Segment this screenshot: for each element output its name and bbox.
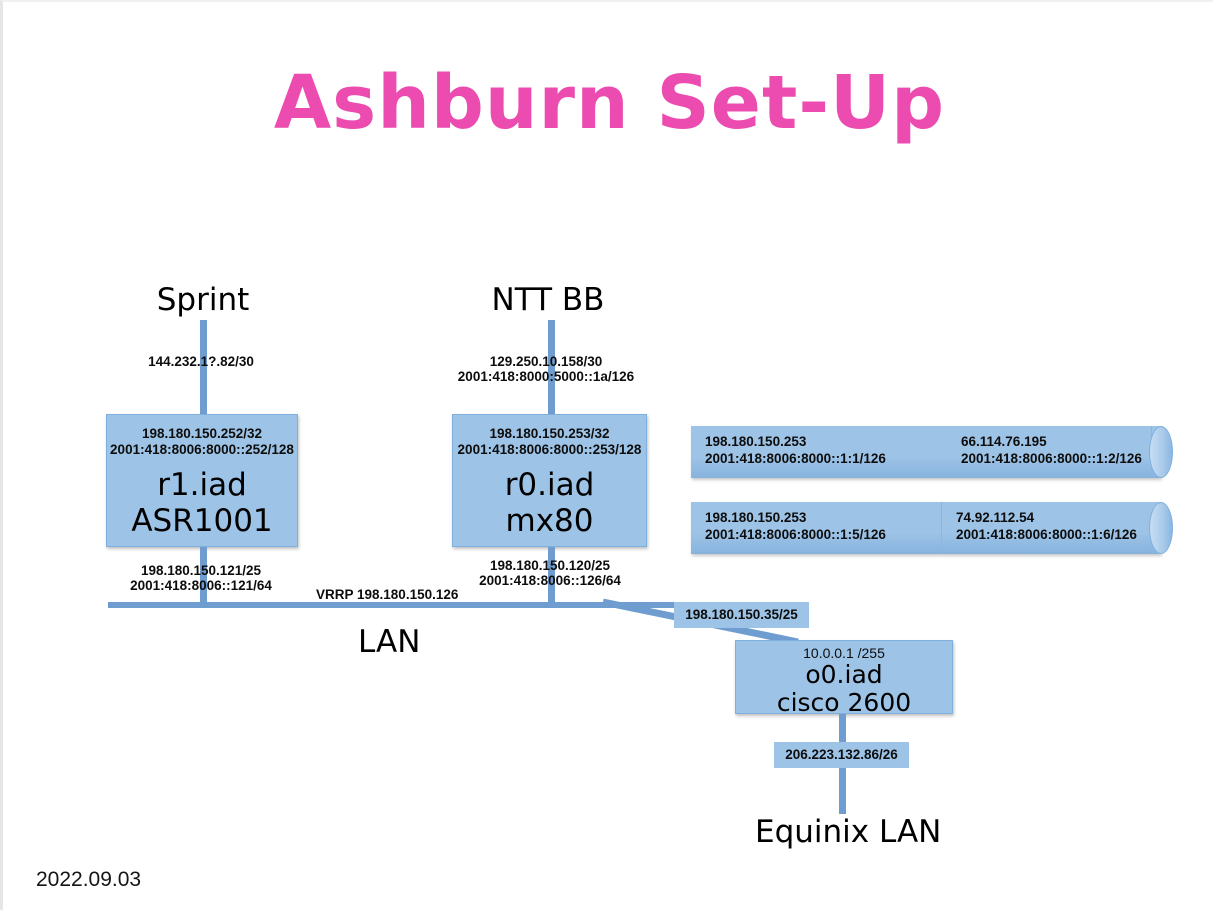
cylinder-2-endcap bbox=[1149, 502, 1173, 554]
peering-1-local-v6: 2001:418:8006:8000::1:1/126 bbox=[705, 450, 886, 467]
router-o0-mgmt: 10.0.0.1 /255 bbox=[736, 645, 952, 661]
slide-canvas: Ashburn Set-Up Sprint 144.232.1?.82/30 N… bbox=[0, 0, 1213, 910]
peering-2-local-v4: 198.180.150.253 bbox=[705, 509, 806, 526]
peering-2-local-v6: 2001:418:8006:8000::1:5/126 bbox=[705, 526, 886, 543]
provider-label-sprint: Sprint bbox=[128, 282, 278, 318]
router-box-o0[interactable]: 10.0.0.1 /255 o0.iad cisco 2600 bbox=[735, 640, 953, 714]
badge-o0-uplink: 198.180.150.35/25 bbox=[674, 602, 809, 628]
router-r1-model: ASR1001 bbox=[107, 503, 297, 539]
peering-cylinder-2[interactable]: 198.180.150.253 2001:418:8006:8000::1:5/… bbox=[691, 502, 1161, 554]
peering-1-local-v4: 198.180.150.253 bbox=[705, 433, 806, 450]
router-box-r1[interactable]: 198.180.150.252/32 2001:418:8006:8000::2… bbox=[106, 414, 298, 547]
provider-label-ntt: NTT BB bbox=[468, 282, 628, 318]
peering-cylinder-1[interactable]: 198.180.150.253 2001:418:8006:8000::1:1/… bbox=[691, 426, 1161, 478]
page-title: Ashburn Set-Up bbox=[3, 60, 1213, 146]
router-r1-loopback-v6: 2001:418:8006:8000::252/128 bbox=[107, 442, 297, 458]
cylinder-1-endcap bbox=[1149, 426, 1173, 478]
badge-o0-downlink: 206.223.132.86/26 bbox=[774, 742, 909, 768]
peering-2-remote-v6: 2001:418:8006:8000::1:6/126 bbox=[956, 526, 1137, 543]
peering-1-remote-v4: 66.114.76.195 bbox=[961, 433, 1047, 450]
router-r0-loopback-v4: 198.180.150.253/32 bbox=[453, 426, 646, 442]
lan-label-r1-v4: 198.180.150.121/25 bbox=[101, 563, 301, 579]
peering-2-remote-v4: 74.92.112.54 bbox=[956, 509, 1034, 526]
cylinder-2-divider bbox=[941, 502, 942, 554]
router-r0-loopback-v6: 2001:418:8006:8000::253/128 bbox=[453, 442, 646, 458]
router-r1-loopback-v4: 198.180.150.252/32 bbox=[107, 426, 297, 442]
date-stamp: 2022.09.03 bbox=[36, 868, 141, 892]
link-label-ntt-v6: 2001:418:8000:5000::1a/126 bbox=[446, 369, 646, 385]
lan-bus-line bbox=[108, 602, 723, 608]
router-box-r0[interactable]: 198.180.150.253/32 2001:418:8006:8000::2… bbox=[452, 414, 647, 547]
router-r0-hostname: r0.iad bbox=[453, 467, 646, 503]
router-r0-model: mx80 bbox=[453, 503, 646, 539]
peering-1-remote-v6: 2001:418:8006:8000::1:2/126 bbox=[961, 450, 1142, 467]
vrrp-label: VRRP 198.180.150.126 bbox=[316, 587, 536, 603]
lan-label-r0-v4: 198.180.150.120/25 bbox=[450, 558, 650, 574]
lan-label-r1-v6: 2001:418:8006::121/64 bbox=[101, 578, 301, 594]
link-label-ntt-v4: 129.250.10.158/30 bbox=[446, 354, 646, 370]
lan-label: LAN bbox=[358, 624, 420, 660]
router-r1-hostname: r1.iad bbox=[107, 467, 297, 503]
link-label-sprint-v4: 144.232.1?.82/30 bbox=[101, 354, 301, 370]
router-o0-model: cisco 2600 bbox=[736, 689, 952, 717]
router-o0-hostname: o0.iad bbox=[736, 661, 952, 689]
equinix-lan-label: Equinix LAN bbox=[755, 814, 941, 850]
